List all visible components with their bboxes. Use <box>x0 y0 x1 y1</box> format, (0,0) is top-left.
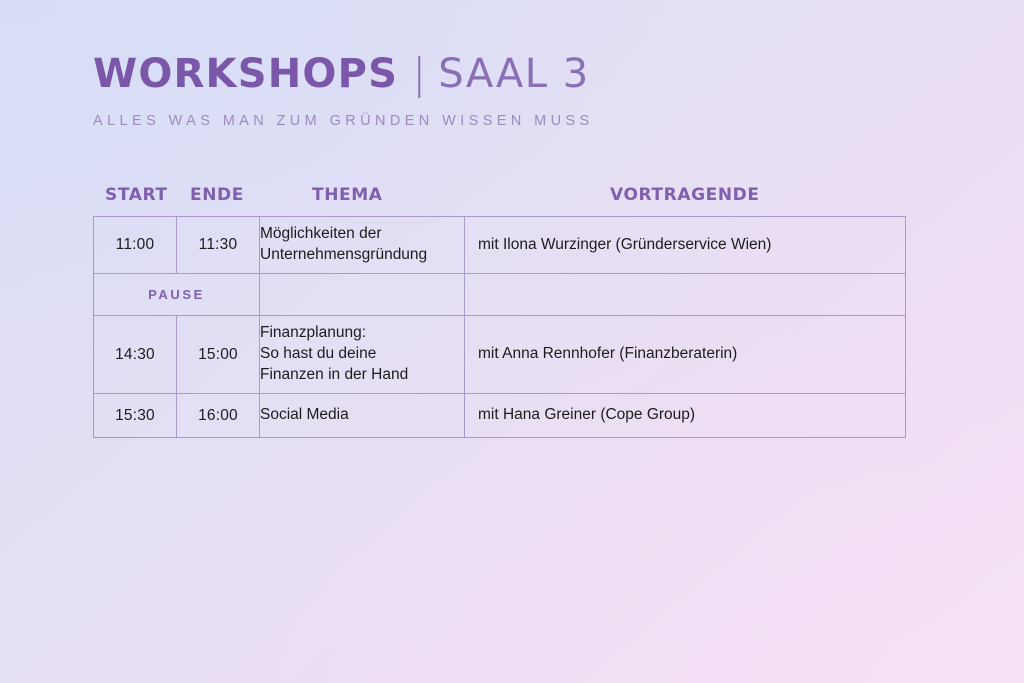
table-row: 11:00 11:30 Möglichkeiten der Unternehme… <box>94 217 906 274</box>
table-column-headers: START ENDE THEMA VORTRAGENDE <box>93 185 905 211</box>
poster-heading: WORKSHOPS | SAAL 3 ALLES WAS MAN ZUM GRÜ… <box>93 52 594 129</box>
poster-canvas: WORKSHOPS | SAAL 3 ALLES WAS MAN ZUM GRÜ… <box>0 0 1024 683</box>
column-header-start: START <box>105 185 168 205</box>
cell-ende: 11:30 <box>177 217 260 274</box>
cell-vortragende: mit Hana Greiner (Cope Group) <box>465 394 906 438</box>
table-row-break: PAUSE <box>94 274 906 316</box>
cell-ende: 15:00 <box>177 316 260 394</box>
cell-thema-empty <box>260 274 465 316</box>
cell-pause-label: PAUSE <box>94 274 260 316</box>
workshop-schedule-table: 11:00 11:30 Möglichkeiten der Unternehme… <box>93 216 906 438</box>
cell-start: 14:30 <box>94 316 177 394</box>
page-title: WORKSHOPS | SAAL 3 <box>93 52 594 94</box>
title-room: SAAL 3 <box>438 54 589 94</box>
cell-ende: 16:00 <box>177 394 260 438</box>
cell-thema: Finanzplanung: So hast du deine Finanzen… <box>260 316 465 394</box>
cell-thema: Social Media <box>260 394 465 438</box>
cell-vortragende-empty <box>465 274 906 316</box>
page-subtitle: ALLES WAS MAN ZUM GRÜNDEN WISSEN MUSS <box>93 113 594 129</box>
title-separator: | <box>412 53 426 95</box>
cell-thema: Möglichkeiten der Unternehmensgründung <box>260 217 465 274</box>
table-row: 15:30 16:00 Social Media mit Hana Greine… <box>94 394 906 438</box>
cell-vortragende: mit Ilona Wurzinger (Gründerservice Wien… <box>465 217 906 274</box>
table-row: 14:30 15:00 Finanzplanung: So hast du de… <box>94 316 906 394</box>
column-header-ende: ENDE <box>190 185 244 205</box>
column-header-thema: THEMA <box>312 185 383 205</box>
cell-start: 11:00 <box>94 217 177 274</box>
title-main: WORKSHOPS <box>93 54 398 94</box>
column-header-vortragende: VORTRAGENDE <box>610 185 760 205</box>
cell-start: 15:30 <box>94 394 177 438</box>
cell-vortragende: mit Anna Rennhofer (Finanzberaterin) <box>465 316 906 394</box>
